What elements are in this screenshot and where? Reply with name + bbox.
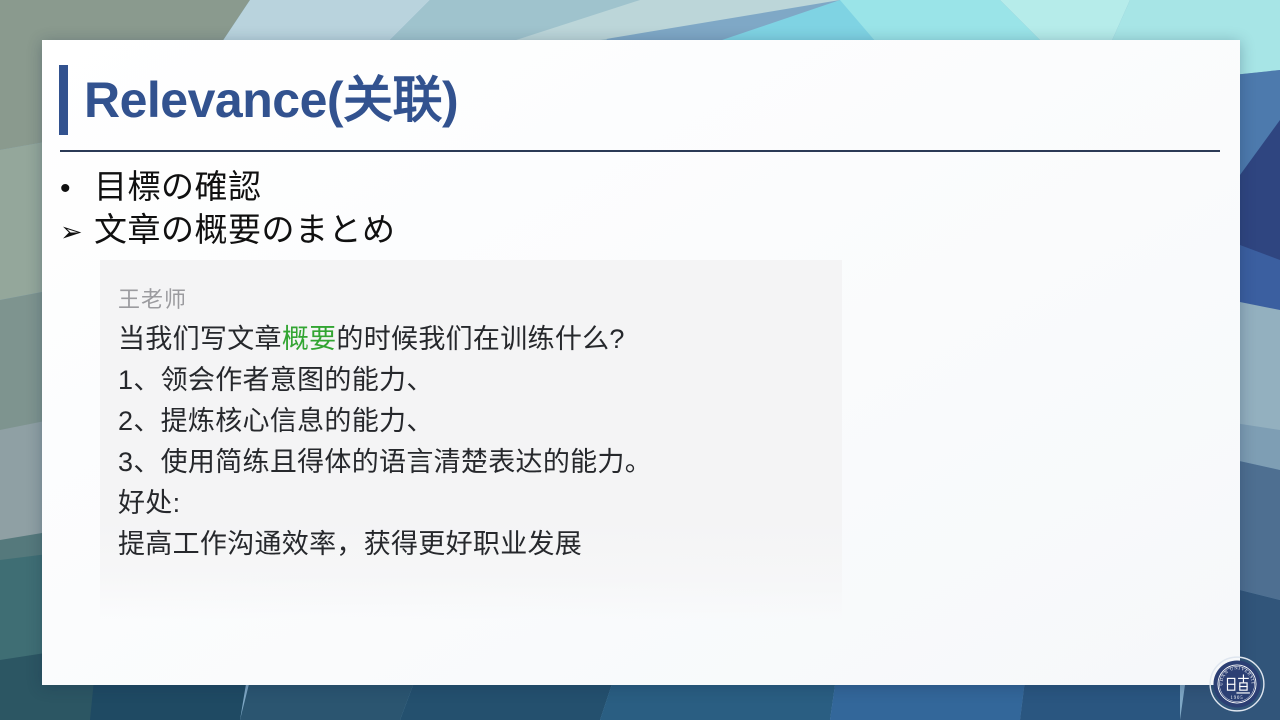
arrow-bullet-icon: ➢ — [60, 215, 94, 250]
embedded-screenshot-panel: 王老师 当我们写文章概要的时候我们在训练什么? 1、领会作者意图的能力、 2、提… — [100, 260, 842, 620]
message-line-1-post: 的时候我们在训练什么? — [336, 324, 624, 354]
message-line-2: 1、领会作者意图的能力、 — [118, 360, 832, 401]
message-line-4: 3、使用简练且得体的语言清楚表达的能力。 — [118, 442, 832, 483]
message-line-6: 提高工作沟通效率，获得更好职业发展 — [118, 524, 832, 565]
screenshot-author-label: 王老师 — [118, 282, 187, 314]
message-line-1-highlight: 概要 — [282, 324, 337, 354]
message-line-1-pre: 当我们写文章 — [118, 324, 282, 354]
bullet-item-2: ➢ 文章の概要のまとめ — [60, 209, 1060, 252]
title-label: Relevance(关联) — [84, 75, 458, 125]
bullet-item-1-label: 目標の確認 — [94, 166, 262, 209]
title-accent-bar — [59, 65, 68, 135]
dot-bullet-icon: • — [60, 169, 94, 208]
bullet-item-1: • 目標の確認 — [60, 166, 1060, 209]
slide-canvas: Relevance(关联) • 目標の確認 ➢ 文章の概要のまとめ 王老师 当我… — [0, 0, 1280, 720]
title-divider — [60, 150, 1220, 152]
message-line-5: 好处: — [118, 483, 832, 524]
message-line-1: 当我们写文章概要的时候我们在训练什么? — [118, 319, 832, 360]
bullet-list: • 目標の確認 ➢ 文章の概要のまとめ — [60, 166, 1060, 252]
bullet-item-2-label: 文章の概要のまとめ — [94, 209, 396, 252]
message-line-3: 2、提炼核心信息的能力、 — [118, 401, 832, 442]
slide-content-card: Relevance(关联) • 目標の確認 ➢ 文章の概要のまとめ 王老师 当我… — [42, 40, 1240, 685]
screenshot-message-body: 当我们写文章概要的时候我们在训练什么? 1、领会作者意图的能力、 2、提炼核心信… — [118, 319, 832, 565]
seal-year-text: 1905 — [1230, 696, 1243, 701]
fudan-university-seal-icon: FUDAN UNIVERSITY 1905 — [1209, 656, 1265, 712]
page-title: Relevance(关联) — [59, 63, 458, 137]
